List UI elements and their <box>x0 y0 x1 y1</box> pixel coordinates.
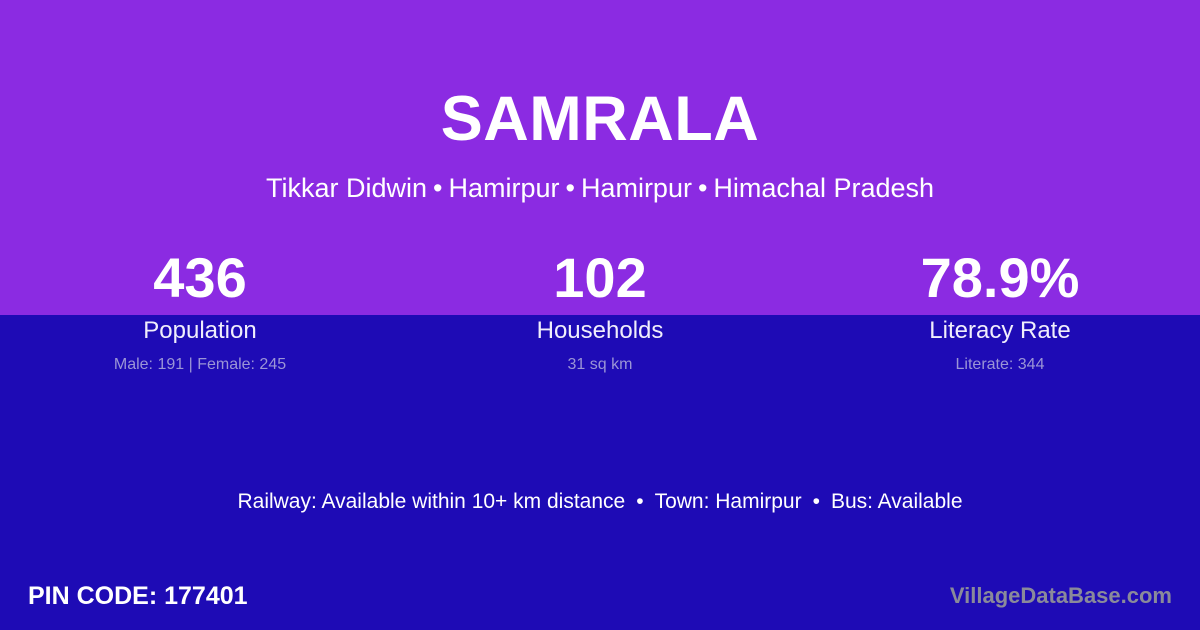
pin-code: PIN CODE: 177401 <box>28 584 248 609</box>
transport-railway: Railway: Available within 10+ km distanc… <box>237 490 625 513</box>
stat-population: 436 Population Male: 191 | Female: 245 <box>0 250 400 373</box>
stat-literacy-detail: Literate: 344 <box>800 357 1200 373</box>
transport-separator-icon: • <box>625 490 654 513</box>
breadcrumb: Tikkar Didwin•Hamirpur•Hamirpur•Himachal… <box>0 151 1200 202</box>
stat-literacy-value: 78.9% <box>800 250 1200 306</box>
stat-households-label: Households <box>400 319 800 343</box>
page-title: SAMRALA <box>0 0 1200 151</box>
transport-info: Railway: Available within 10+ km distanc… <box>0 489 1200 514</box>
card-footer: PIN CODE: 177401 VillageDataBase.com <box>0 572 1200 620</box>
breadcrumb-item-district: Hamirpur <box>581 173 692 203</box>
breadcrumb-separator-icon: • <box>692 173 713 203</box>
stat-households-detail: 31 sq km <box>400 357 800 373</box>
site-brand: VillageDataBase.com <box>950 585 1172 607</box>
transport-town: Town: Hamirpur <box>655 490 802 513</box>
stat-literacy-label: Literacy Rate <box>800 319 1200 343</box>
transport-separator-icon: • <box>802 490 831 513</box>
breadcrumb-item-block: Hamirpur <box>448 173 559 203</box>
village-info-card: SAMRALA Tikkar Didwin•Hamirpur•Hamirpur•… <box>0 0 1200 630</box>
card-header: SAMRALA Tikkar Didwin•Hamirpur•Hamirpur•… <box>0 0 1200 202</box>
transport-bus: Bus: Available <box>831 490 963 513</box>
stats-row: 436 Population Male: 191 | Female: 245 1… <box>0 250 1200 373</box>
breadcrumb-separator-icon: • <box>559 173 580 203</box>
breadcrumb-item-state: Himachal Pradesh <box>713 173 934 203</box>
breadcrumb-item-village: Tikkar Didwin <box>266 173 427 203</box>
stat-population-label: Population <box>0 319 400 343</box>
stat-population-value: 436 <box>0 250 400 306</box>
stat-households: 102 Households 31 sq km <box>400 250 800 373</box>
breadcrumb-separator-icon: • <box>427 173 448 203</box>
stat-households-value: 102 <box>400 250 800 306</box>
stat-population-detail: Male: 191 | Female: 245 <box>0 357 400 373</box>
stat-literacy: 78.9% Literacy Rate Literate: 344 <box>800 250 1200 373</box>
